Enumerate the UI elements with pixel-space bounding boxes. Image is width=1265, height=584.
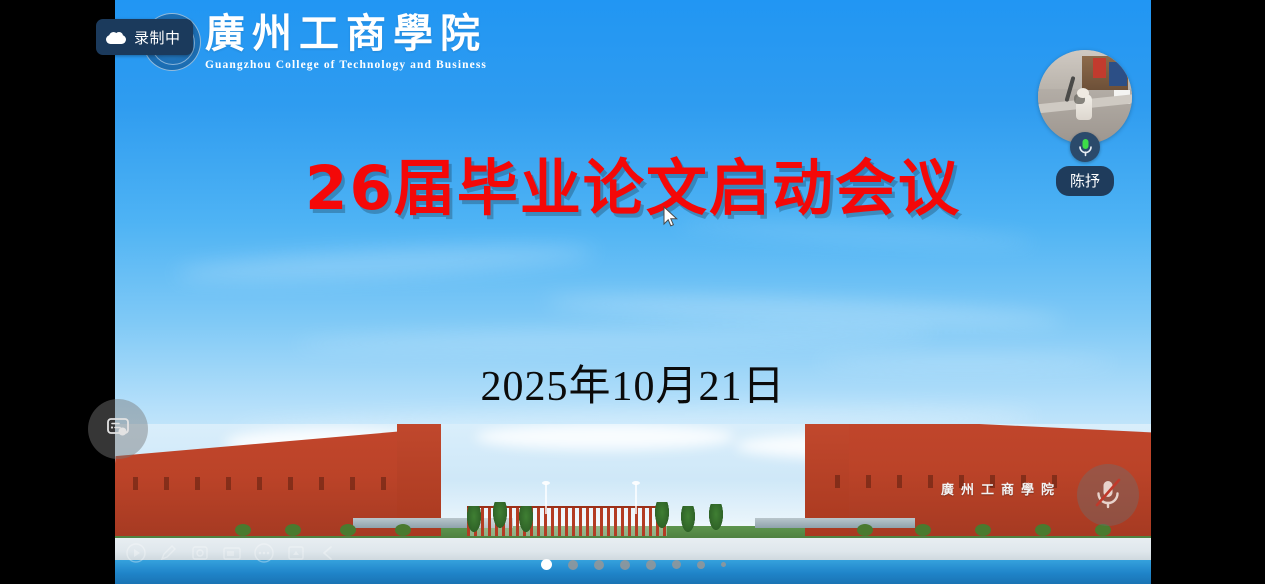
cat-head <box>1077 88 1089 98</box>
page-dot[interactable] <box>568 560 578 570</box>
shrub <box>340 524 356 536</box>
cloud-streak <box>175 239 596 287</box>
meeting-screen-share-view: 26届毕业论文启动会议 2025年10月21日 <box>0 0 1265 584</box>
building-sign: 廣州工商學院 <box>941 479 1061 498</box>
recording-badge[interactable]: 录制中 <box>96 19 193 55</box>
shrub <box>915 524 931 536</box>
page-dot[interactable] <box>721 562 726 567</box>
cloud-streak <box>295 324 935 353</box>
canopy-right <box>755 518 915 528</box>
photo-cloud <box>475 424 735 450</box>
tree <box>655 502 669 528</box>
tree <box>681 506 695 532</box>
shrub <box>285 524 301 536</box>
participant-tile[interactable]: 陈抒 <box>1038 50 1132 144</box>
page-dot[interactable] <box>594 560 604 570</box>
page-dot[interactable] <box>672 560 681 569</box>
window-row <box>133 477 386 490</box>
page-dot[interactable] <box>620 560 630 570</box>
notes-icon <box>104 413 132 446</box>
tree <box>467 506 481 532</box>
slide-title: 26届毕业论文启动会议 <box>115 158 1151 219</box>
mute-button[interactable] <box>1077 464 1139 526</box>
page-dot[interactable] <box>697 561 705 569</box>
participant-name: 陈抒 <box>1056 166 1114 196</box>
tree <box>493 502 507 528</box>
university-name-cn: 廣州工商學院 <box>205 14 487 54</box>
university-name-en: Guangzhou College of Technology and Busi… <box>205 59 487 71</box>
avatar-red-box <box>1093 58 1106 78</box>
shrub <box>975 524 991 536</box>
cloud-icon <box>106 31 126 44</box>
microphone-on-icon[interactable] <box>1070 132 1100 162</box>
slide-date: 2025年10月21日 <box>115 352 1151 413</box>
shrub <box>395 524 411 536</box>
shrub <box>857 524 873 536</box>
slide-pagination[interactable] <box>115 559 1151 570</box>
tree <box>709 504 723 530</box>
tree <box>519 506 533 532</box>
recording-label: 录制中 <box>134 27 181 48</box>
page-dot[interactable] <box>541 559 552 570</box>
microphone-off-icon <box>1089 474 1127 517</box>
notes-button[interactable] <box>88 399 148 459</box>
shrub <box>235 524 251 536</box>
cloud-streak <box>545 291 1065 331</box>
presentation-slide[interactable]: 26届毕业论文启动会议 2025年10月21日 <box>115 0 1151 584</box>
street-lamp <box>635 484 637 514</box>
street-lamp <box>545 484 547 514</box>
avatar <box>1038 50 1132 144</box>
page-dot[interactable] <box>646 560 656 570</box>
avatar-blue-box <box>1109 62 1127 86</box>
shrub <box>1035 524 1051 536</box>
